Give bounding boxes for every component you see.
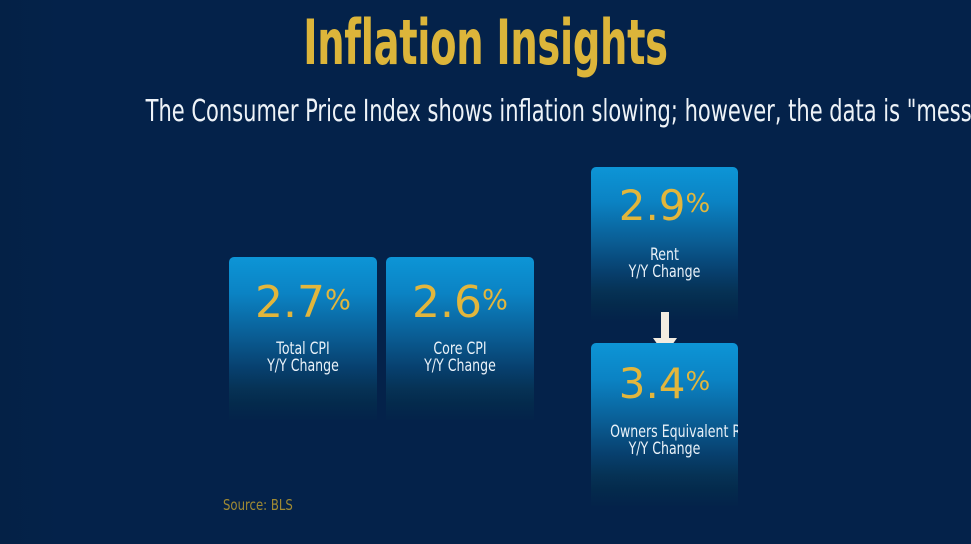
page-title: Inflation Insights (184, 12, 786, 74)
metric-value-core-cpi: 2.6% (386, 281, 534, 331)
metric-value-total-cpi: 2.7% (229, 281, 377, 331)
metric-card-rent: 2.9% Rent Y/Y Change (591, 167, 738, 322)
metric-label-rent-line2: Y/Y Change (610, 264, 719, 282)
metric-value-owners-equivalent-rent: 3.4% (591, 363, 738, 411)
metric-value-rent: 2.9% (591, 185, 738, 233)
metric-number-rent: 2.9 (619, 181, 686, 230)
metric-label-total-cpi-line2: Y/Y Change (248, 358, 358, 376)
percent-sign-icon: % (686, 367, 711, 397)
page-subtitle: The Consumer Price Index shows inflation… (146, 96, 826, 128)
metric-card-core-cpi: 2.6% Core CPI Y/Y Change (386, 257, 534, 422)
metric-label-core-cpi-line2: Y/Y Change (405, 358, 515, 376)
percent-sign-icon: % (686, 189, 711, 219)
metric-number-total-cpi: 2.7 (255, 277, 325, 328)
metric-card-owners-equivalent-rent: 3.4% Owners Equivalent Rent Y/Y Change (591, 343, 738, 508)
metric-number-owners-equivalent-rent: 3.4 (619, 359, 686, 408)
metric-number-core-cpi: 2.6 (412, 277, 482, 328)
metric-label-owners-equivalent-rent-line2: Y/Y Change (610, 441, 719, 459)
percent-sign-icon: % (482, 285, 508, 316)
background-panel-seam (0, 0, 62, 544)
metric-card-total-cpi: 2.7% Total CPI Y/Y Change (229, 257, 377, 422)
source-note: Source: BLS (223, 497, 293, 513)
slide-canvas: Inflation Insights The Consumer Price In… (0, 0, 971, 544)
percent-sign-icon: % (325, 285, 351, 316)
